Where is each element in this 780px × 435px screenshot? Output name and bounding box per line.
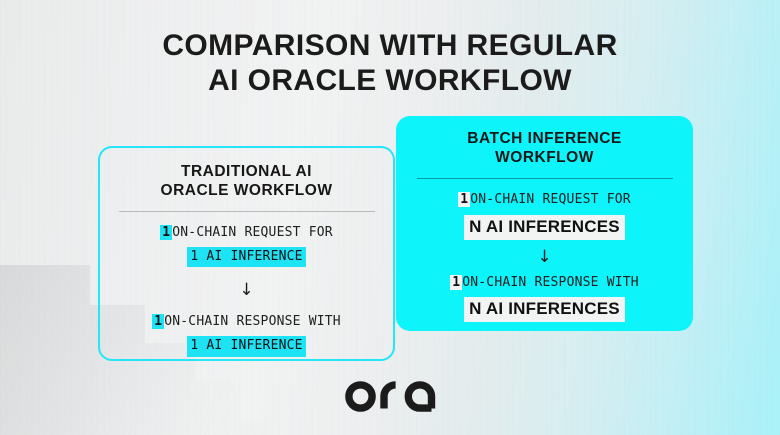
traditional-step-response-text: ON-CHAIN RESPONSE WITH <box>164 314 341 329</box>
traditional-workflow-title-line-2: ORACLE WORKFLOW <box>100 181 393 200</box>
batch-flow-arrow-icon: ↓ <box>396 249 693 266</box>
batch-step-request-badge: 1 <box>458 192 470 207</box>
batch-step-response-result: N AI INFERENCES <box>464 297 625 321</box>
traditional-step-response-result: 1 AI INFERENCE <box>187 336 305 356</box>
traditional-workflow-panel: TRADITIONAL AI ORACLE WORKFLOW 1ON-CHAIN… <box>98 146 395 361</box>
batch-step-response-text: ON-CHAIN RESPONSE WITH <box>462 275 639 290</box>
batch-inference-title: BATCH INFERENCE WORKFLOW <box>396 129 693 167</box>
batch-step-request: 1ON-CHAIN REQUEST FOR N AI INFERENCES <box>396 191 693 239</box>
ora-wordmark-icon <box>344 378 436 412</box>
traditional-step-response-badge: 1 <box>152 314 164 329</box>
traditional-workflow-title-line-1: TRADITIONAL AI <box>100 162 393 181</box>
batch-step-response-badge: 1 <box>450 275 462 290</box>
traditional-step-request-result: 1 AI INFERENCE <box>187 247 305 267</box>
batch-inference-title-line-1: BATCH INFERENCE <box>396 129 693 148</box>
traditional-workflow-title: TRADITIONAL AI ORACLE WORKFLOW <box>100 162 393 200</box>
batch-step-request-line: 1ON-CHAIN REQUEST FOR <box>396 191 693 210</box>
traditional-flow-arrow-icon: ↓ <box>100 282 393 299</box>
batch-step-request-result: N AI INFERENCES <box>464 215 625 239</box>
batch-step-response: 1ON-CHAIN RESPONSE WITH N AI INFERENCES <box>396 274 693 322</box>
batch-step-request-text: ON-CHAIN REQUEST FOR <box>470 192 631 207</box>
traditional-step-request: 1ON-CHAIN REQUEST FOR 1 AI INFERENCE <box>100 224 393 267</box>
page-title-line-1: COMPARISON WITH REGULAR <box>0 28 780 63</box>
traditional-step-response: 1ON-CHAIN RESPONSE WITH 1 AI INFERENCE <box>100 313 393 356</box>
batch-inference-title-line-2: WORKFLOW <box>396 148 693 167</box>
traditional-step-request-badge: 1 <box>160 225 172 240</box>
traditional-workflow-steps: 1ON-CHAIN REQUEST FOR 1 AI INFERENCE ↓ 1… <box>100 224 393 356</box>
batch-inference-steps: 1ON-CHAIN REQUEST FOR N AI INFERENCES ↓ … <box>396 191 693 321</box>
batch-inference-panel: BATCH INFERENCE WORKFLOW 1ON-CHAIN REQUE… <box>396 116 693 331</box>
page-title-line-2: AI ORACLE WORKFLOW <box>0 63 780 98</box>
traditional-step-request-text: ON-CHAIN REQUEST FOR <box>172 225 333 240</box>
traditional-step-request-line: 1ON-CHAIN REQUEST FOR <box>100 224 393 243</box>
traditional-step-response-line: 1ON-CHAIN RESPONSE WITH <box>100 313 393 332</box>
traditional-workflow-divider <box>119 211 375 212</box>
ora-logo <box>0 378 780 417</box>
page-title: COMPARISON WITH REGULAR AI ORACLE WORKFL… <box>0 28 780 98</box>
slide-canvas: COMPARISON WITH REGULAR AI ORACLE WORKFL… <box>0 0 780 435</box>
batch-step-response-line: 1ON-CHAIN RESPONSE WITH <box>396 274 693 293</box>
batch-inference-divider <box>417 178 673 179</box>
